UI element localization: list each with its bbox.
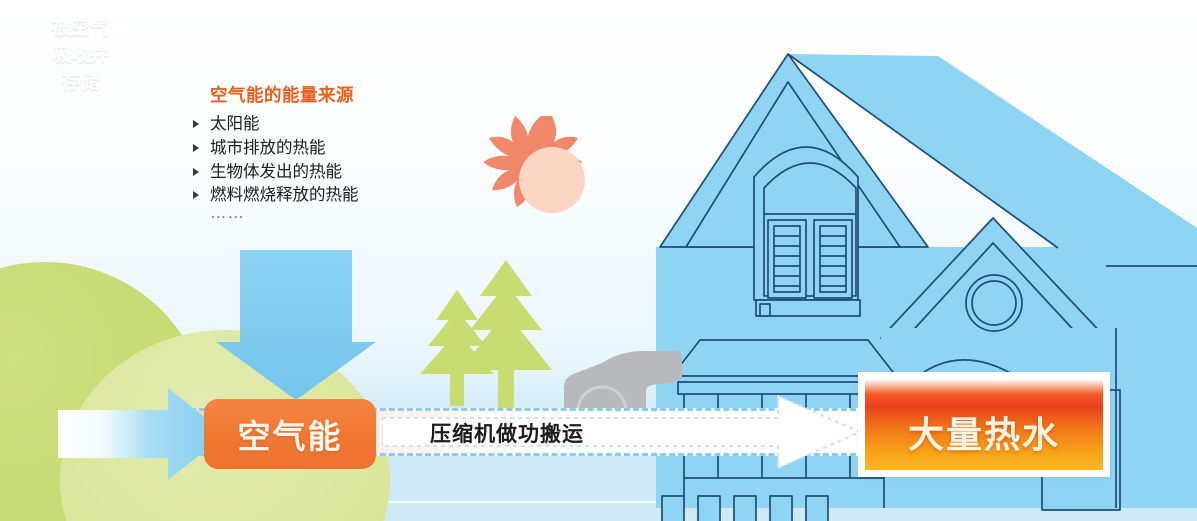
arrow-down-icon xyxy=(216,250,376,400)
air-energy-label: 空气能 xyxy=(238,410,343,458)
list-item: 生物体发出的热能 xyxy=(188,161,448,185)
list-item: 燃料燃烧释放的热能 xyxy=(188,184,448,208)
energy-source-block: 空气能的能量来源 太阳能 城市排放的热能 生物体发出的热能 燃料燃烧释放的热能 … xyxy=(188,82,448,223)
energy-source-list: 太阳能 城市排放的热能 生物体发出的热能 燃料燃烧释放的热能 xyxy=(188,113,448,208)
pine-tree-icon xyxy=(458,258,554,408)
list-item: 太阳能 xyxy=(188,113,448,137)
energy-source-title: 空气能的能量来源 xyxy=(210,82,448,107)
hot-water-label: 大量热水 xyxy=(908,406,1060,458)
arrow-right-icon xyxy=(58,388,226,480)
list-item-label: 城市排放的热能 xyxy=(210,139,326,157)
triangle-right-icon xyxy=(193,191,199,199)
infographic-canvas: 空气能的能量来源 太阳能 城市排放的热能 生物体发出的热能 燃料燃烧释放的热能 … xyxy=(0,0,1197,521)
hot-water-card-inner: 大量热水 xyxy=(865,379,1103,470)
compressor-label: 压缩机做功搬运 xyxy=(430,418,584,448)
list-item-label: 燃料燃烧释放的热能 xyxy=(210,186,359,204)
air-energy-card: 空气能 xyxy=(204,399,376,469)
down-arrow-line3: 存储 xyxy=(0,70,160,97)
hot-water-card: 大量热水 xyxy=(858,372,1110,477)
down-arrow-line2: 吸收并 xyxy=(0,43,160,70)
triangle-right-icon xyxy=(193,168,199,176)
sun-icon xyxy=(484,112,620,248)
down-arrow-label: 被空气 吸收并 存储 xyxy=(0,16,160,97)
list-item: 城市排放的热能 xyxy=(188,137,448,161)
triangle-right-icon xyxy=(193,144,199,152)
list-item-label: 太阳能 xyxy=(210,115,260,133)
triangle-right-icon xyxy=(193,120,199,128)
list-item-label: 生物体发出的热能 xyxy=(210,163,342,181)
down-arrow-line1: 被空气 xyxy=(0,16,160,43)
